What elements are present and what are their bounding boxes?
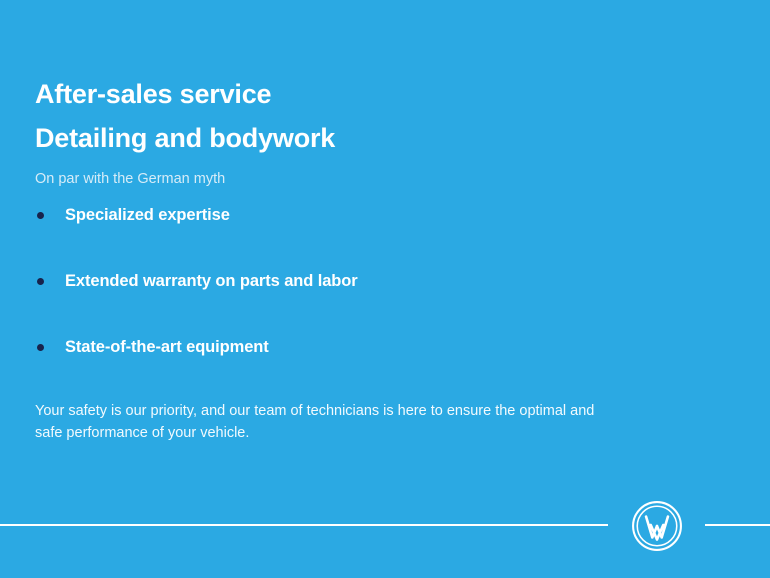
bullet-point-icon (37, 212, 44, 219)
volkswagen-logo-icon (631, 500, 683, 552)
page-subtitle: On par with the German myth (35, 169, 735, 189)
footer (0, 500, 770, 552)
list-item: Specialized expertise (35, 203, 735, 269)
divider-line-right (705, 524, 770, 526)
bullet-point-icon (37, 344, 44, 351)
slide-canvas: After-sales service Detailing and bodywo… (0, 0, 770, 578)
heading-block: After-sales service Detailing and bodywo… (35, 72, 735, 189)
closing-paragraph: Your safety is our priority, and our tea… (35, 400, 595, 444)
list-item-label: Extended warranty on parts and labor (65, 269, 358, 293)
divider-line-left (0, 524, 608, 526)
list-item: State-of-the-art equipment (35, 335, 735, 401)
feature-bullet-list: Specialized expertise Extended warranty … (35, 203, 735, 401)
list-item-label: State-of-the-art equipment (65, 335, 269, 359)
page-title-line-2: Detailing and bodywork (35, 116, 735, 160)
bullet-point-icon (37, 278, 44, 285)
list-item: Extended warranty on parts and labor (35, 269, 735, 335)
volkswagen-logo (631, 500, 683, 552)
list-item-label: Specialized expertise (65, 203, 230, 227)
page-title-line-1: After-sales service (35, 72, 735, 116)
